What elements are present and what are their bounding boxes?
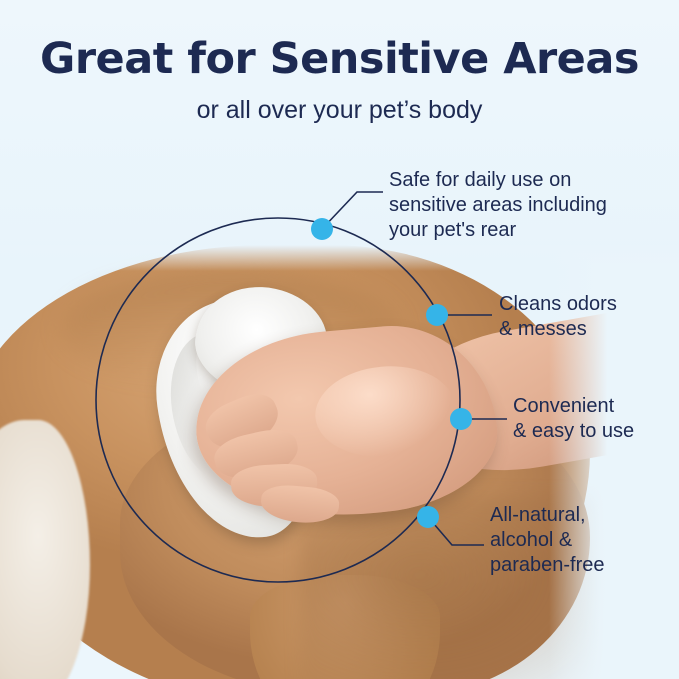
callout-label-safe-daily-use: Safe for daily use on sensitive areas in… (389, 168, 607, 243)
callout-label-convenient: Convenient & easy to use (513, 394, 634, 444)
leader-line-0 (322, 192, 383, 229)
photo-top-fade (0, 245, 679, 271)
product-infographic: Great for Sensitive Areas or all over yo… (0, 0, 679, 679)
hand-highlight (312, 361, 459, 463)
page-subtitle: or all over your pet’s body (0, 96, 679, 125)
callout-label-all-natural: All-natural, alcohol & paraben-free (490, 503, 605, 578)
page-title: Great for Sensitive Areas (0, 34, 679, 84)
callout-dot-0[interactable] (311, 218, 333, 240)
callout-label-cleans-odors: Cleans odors & messes (499, 292, 617, 342)
